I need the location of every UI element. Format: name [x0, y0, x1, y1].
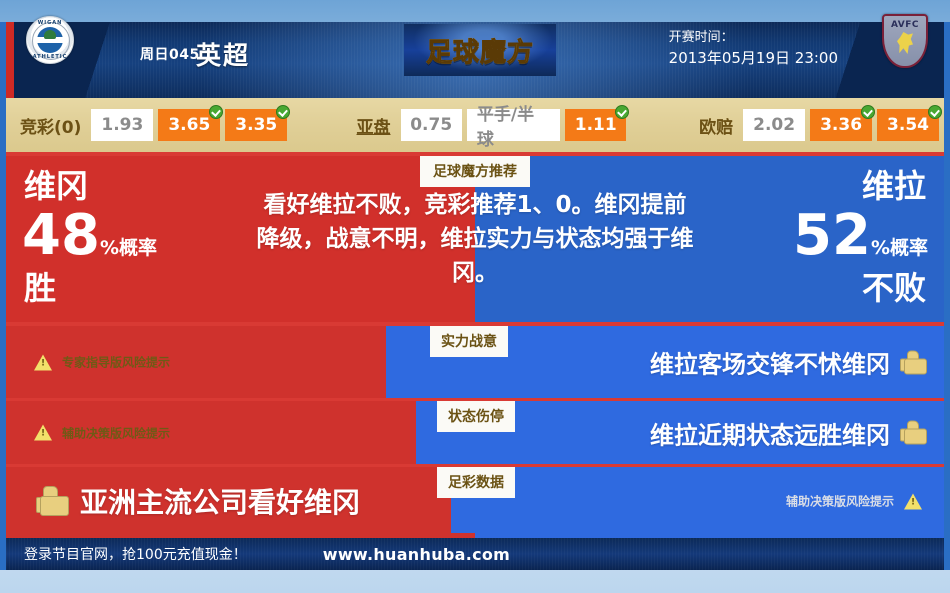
- odds-group-title: 亚盘: [357, 113, 391, 138]
- stat-row-tag: 状态伤停: [437, 401, 515, 432]
- stat-row-headline: 亚洲主流公司看好维冈: [36, 481, 360, 521]
- stat-row-headline-text: 维拉客场交锋不怵维冈: [650, 345, 890, 380]
- home-probability: 48%概率: [22, 208, 157, 264]
- odds-cell-value: 3.54: [887, 115, 929, 135]
- stat-row-headline: 维拉近期状态远胜维冈: [650, 415, 926, 450]
- stat-row-blue-panel: 辅助决策版风险提示: [451, 467, 944, 535]
- odds-cell-value: 3.35: [235, 115, 277, 135]
- odds-cell[interactable]: 1.93: [91, 109, 153, 141]
- away-probability: 52%概率: [793, 208, 928, 264]
- away-team-name: 维拉: [862, 170, 926, 202]
- warning-icon: [34, 425, 52, 441]
- odds-cell[interactable]: 0.75: [401, 109, 462, 141]
- odds-group-title: 竞彩(0): [20, 113, 81, 138]
- stat-row-tag: 足彩数据: [437, 467, 515, 498]
- home-team-badge: WIGAN ATHLETIC: [26, 16, 72, 62]
- kickoff-value: 2013年05月19日 23:00: [669, 48, 838, 69]
- match-round: 周日045: [140, 44, 200, 64]
- odds-cell[interactable]: 平手/半球: [467, 109, 560, 141]
- away-team-badge: AVFC: [882, 14, 928, 60]
- brand-logo-text: 足球魔方: [426, 32, 534, 69]
- footer-bar: 登录节目官网，抢100元充值现金！ www.huanhuba.com: [6, 538, 944, 570]
- stat-row-red-panel: 专家指导版风险提示: [6, 326, 386, 398]
- odds-cell[interactable]: 1.11: [565, 109, 626, 141]
- recommendation-text: 看好维拉不败，竞彩推荐1、0。维冈提前降级，战意不明，维拉实力与状态均强于维冈。: [255, 188, 695, 290]
- odds-cell[interactable]: 3.36: [810, 109, 872, 141]
- away-probability-unit: %概率: [871, 237, 928, 259]
- crest-text-top: WIGAN: [27, 20, 73, 26]
- stat-row-tag: 实力战意: [430, 326, 508, 357]
- risk-warning-text: 辅助决策版风险提示: [786, 493, 894, 510]
- recommendation-tag: 足球魔方推荐: [420, 156, 530, 187]
- odds-bar: 竞彩(0) 1.93 3.65 3.35 亚盘 0.75 平手/半球 1.11 …: [6, 98, 944, 152]
- odds-group-yapan: 亚盘 0.75 平手/半球 1.11: [343, 109, 632, 141]
- odds-group-jingcai: 竞彩(0) 1.93 3.65 3.35: [6, 109, 292, 141]
- home-probability-value: 48: [22, 203, 100, 268]
- check-icon: [209, 105, 223, 119]
- risk-warning-text: 辅助决策版风险提示: [62, 424, 170, 441]
- away-outcome: 不败: [862, 272, 926, 304]
- footer-promo-text: 登录节目官网，抢100元充值现金！: [24, 544, 247, 564]
- warning-icon: [904, 493, 922, 509]
- kickoff-block: 开赛时间： 2013年05月19日 23:00: [669, 28, 838, 69]
- crest-text-bottom: ATHLETIC: [27, 54, 73, 60]
- stat-row-headline-text: 维拉近期状态远胜维冈: [650, 415, 890, 450]
- wigan-crest-icon: WIGAN ATHLETIC: [26, 16, 74, 64]
- odds-cell[interactable]: 3.35: [225, 109, 287, 141]
- odds-cell[interactable]: 2.02: [743, 109, 805, 141]
- header-red-accent: [6, 22, 14, 98]
- infographic-stage: WIGAN ATHLETIC AVFC 周日045 英超 足球魔方 开赛时间： …: [0, 0, 950, 593]
- home-probability-unit: %概率: [100, 237, 157, 259]
- odds-cell[interactable]: 3.54: [877, 109, 939, 141]
- risk-warning-text: 专家指导版风险提示: [62, 354, 170, 371]
- home-outcome: 胜: [24, 272, 56, 304]
- risk-warning: 辅助决策版风险提示: [786, 493, 922, 510]
- thumbs-up-icon: [900, 421, 926, 445]
- home-team-name: 维冈: [24, 170, 88, 202]
- check-icon: [928, 105, 942, 119]
- odds-cell[interactable]: 3.65: [158, 109, 220, 141]
- avfc-crest-icon: AVFC: [882, 14, 928, 68]
- stat-row-headline: 维拉客场交锋不怵维冈: [650, 345, 926, 380]
- odds-cell-value: 1.11: [575, 115, 617, 135]
- footer-url[interactable]: www.huanhuba.com: [323, 545, 510, 564]
- odds-group-oupei: 欧赔 2.02 3.36 3.54: [685, 109, 944, 141]
- check-icon: [861, 105, 875, 119]
- stat-row-red-panel: 亚洲主流公司看好维冈: [6, 467, 451, 535]
- check-icon: [615, 105, 629, 119]
- match-league: 英超: [196, 36, 250, 72]
- check-icon: [276, 105, 290, 119]
- odds-group-title: 欧赔: [699, 113, 733, 138]
- stat-row-red-panel: 辅助决策版风险提示: [6, 401, 416, 464]
- risk-warning: 专家指导版风险提示: [34, 354, 170, 371]
- avfc-crest-label: AVFC: [884, 20, 926, 30]
- brand-logo: 足球魔方: [404, 24, 556, 76]
- odds-cell-value: 3.65: [168, 115, 210, 135]
- crest-text: WIGAN ATHLETIC: [27, 17, 73, 63]
- away-probability-value: 52: [793, 203, 871, 268]
- odds-cell-value: 3.36: [820, 115, 862, 135]
- thumbs-up-icon: [36, 486, 70, 516]
- thumbs-up-icon: [900, 350, 926, 374]
- kickoff-label: 开赛时间：: [669, 28, 838, 48]
- risk-warning: 辅助决策版风险提示: [34, 424, 170, 441]
- stat-row-headline-text: 亚洲主流公司看好维冈: [80, 481, 360, 521]
- lion-icon: [897, 32, 913, 54]
- warning-icon: [34, 354, 52, 370]
